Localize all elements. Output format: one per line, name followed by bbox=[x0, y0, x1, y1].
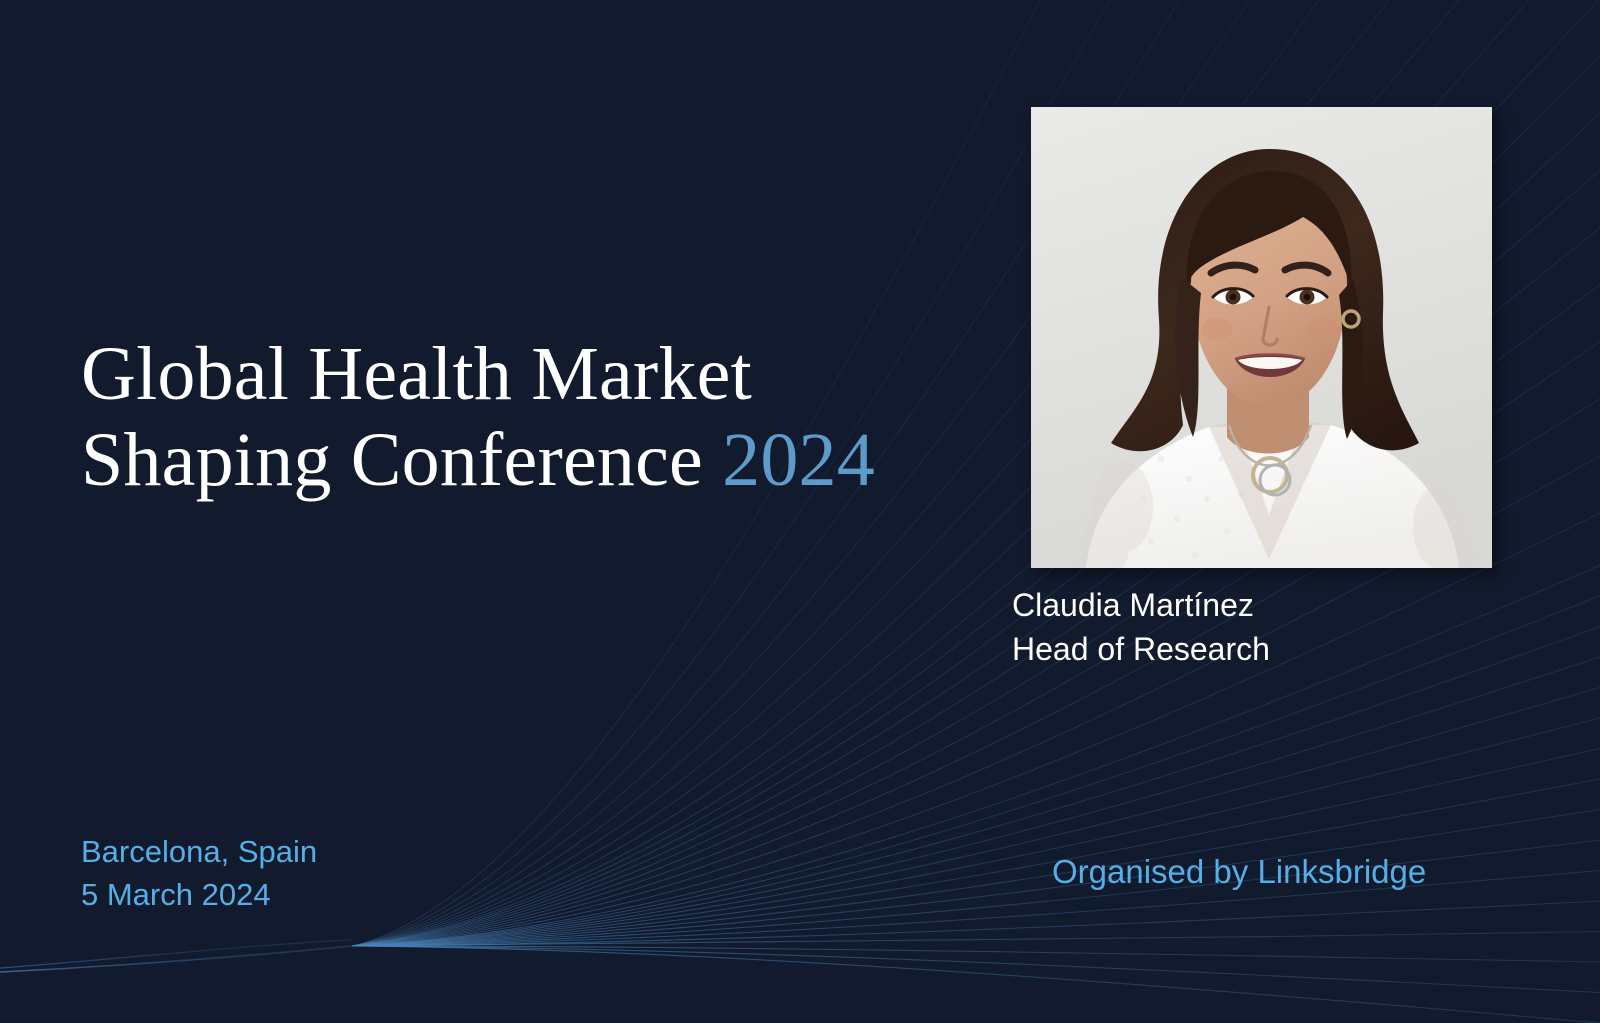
event-meta: Barcelona, Spain 5 March 2024 bbox=[81, 830, 317, 916]
title-line-2-text: Shaping Conference bbox=[81, 418, 722, 502]
speaker-role: Head of Research bbox=[1012, 627, 1270, 671]
fan-line bbox=[352, 687, 1600, 946]
fan-line bbox=[352, 901, 1600, 946]
fan-line bbox=[352, 596, 1600, 946]
title-line-1: Global Health Market bbox=[81, 331, 981, 417]
fan-line bbox=[352, 946, 1600, 992]
speaker-name: Claudia Martínez bbox=[1012, 583, 1270, 627]
fan-line bbox=[352, 931, 1600, 946]
fan-line bbox=[352, 718, 1600, 946]
speaker-portrait-illustration bbox=[1031, 107, 1492, 568]
fan-line bbox=[352, 946, 1600, 962]
fan-line bbox=[352, 748, 1600, 946]
fan-tail-line bbox=[0, 940, 352, 968]
fan-line bbox=[352, 657, 1600, 946]
speaker-photo bbox=[1031, 107, 1492, 568]
title-line-2: Shaping Conference 2024 bbox=[81, 417, 981, 503]
fan-tail-line bbox=[0, 946, 352, 972]
fan-line bbox=[352, 626, 1600, 946]
conference-title-slide: Global Health Market Shaping Conference … bbox=[0, 0, 1600, 1023]
event-date: 5 March 2024 bbox=[81, 873, 317, 916]
speaker-caption: Claudia Martínez Head of Research bbox=[1012, 583, 1270, 671]
event-location: Barcelona, Spain bbox=[81, 830, 317, 873]
title-year: 2024 bbox=[722, 418, 875, 502]
organiser-credit: Organised by Linksbridge bbox=[1052, 851, 1426, 893]
fan-line bbox=[352, 946, 1600, 1023]
page-title: Global Health Market Shaping Conference … bbox=[81, 331, 981, 503]
